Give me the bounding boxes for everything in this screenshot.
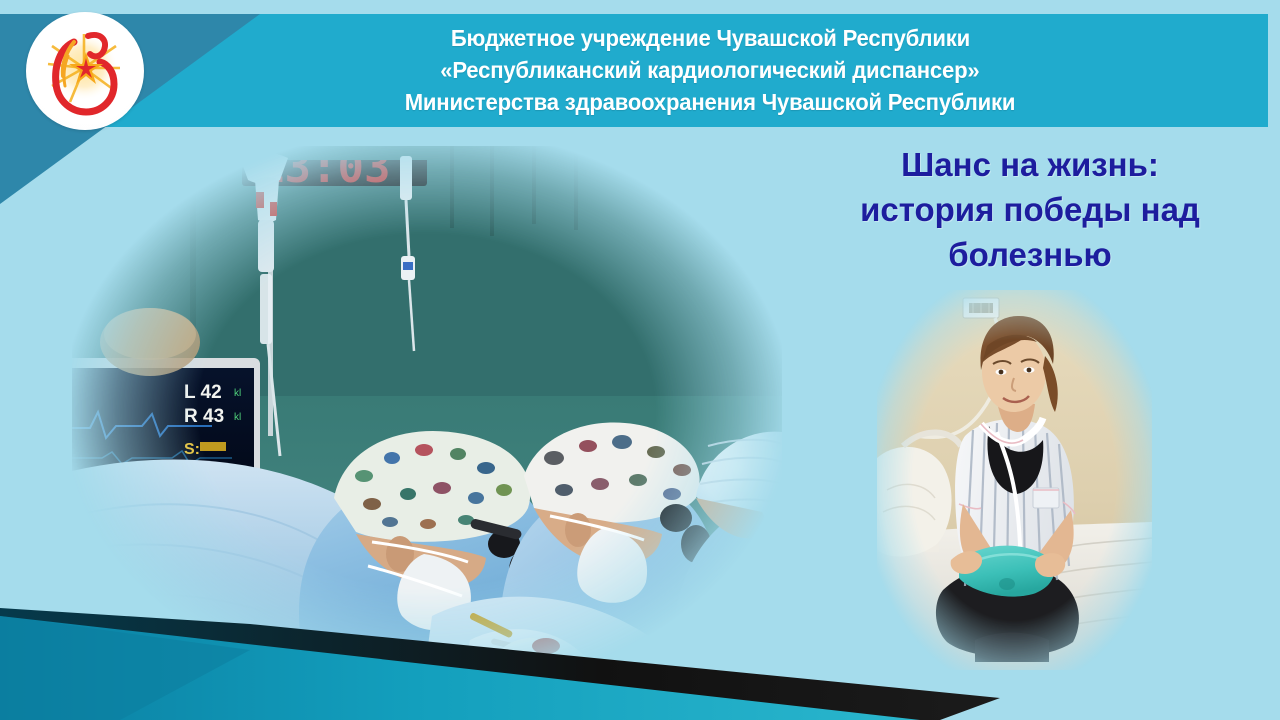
organization-logo: [26, 12, 144, 130]
heart-with-starburst-logo: [26, 12, 144, 130]
headline-line-1: Шанс на жизнь:: [800, 142, 1260, 187]
svg-text:kl: kl: [234, 388, 241, 399]
headline-line-2: история победы над: [800, 187, 1260, 232]
organization-title: Бюджетное учреждение Чувашской Республик…: [200, 18, 1220, 123]
svg-text:L 42: L 42: [184, 382, 222, 403]
top-light-strip: [0, 0, 1280, 14]
svg-text:kl: kl: [234, 412, 241, 423]
svg-text:R 43: R 43: [184, 406, 224, 427]
slide-headline: Шанс на жизнь: история победы над болезн…: [800, 142, 1260, 277]
org-title-line-2: «Республиканский кардиологический диспан…: [440, 55, 979, 86]
org-title-line-3: Министерства здравоохранения Чувашской Р…: [405, 87, 1016, 118]
headline-line-3: болезнью: [800, 232, 1260, 277]
slide-root: 13:03: [0, 0, 1280, 720]
org-title-line-1: Бюджетное учреждение Чувашской Республик…: [450, 23, 969, 54]
svg-text:S:: S:: [184, 441, 200, 458]
decor-wedge-bottom: [0, 590, 1280, 720]
